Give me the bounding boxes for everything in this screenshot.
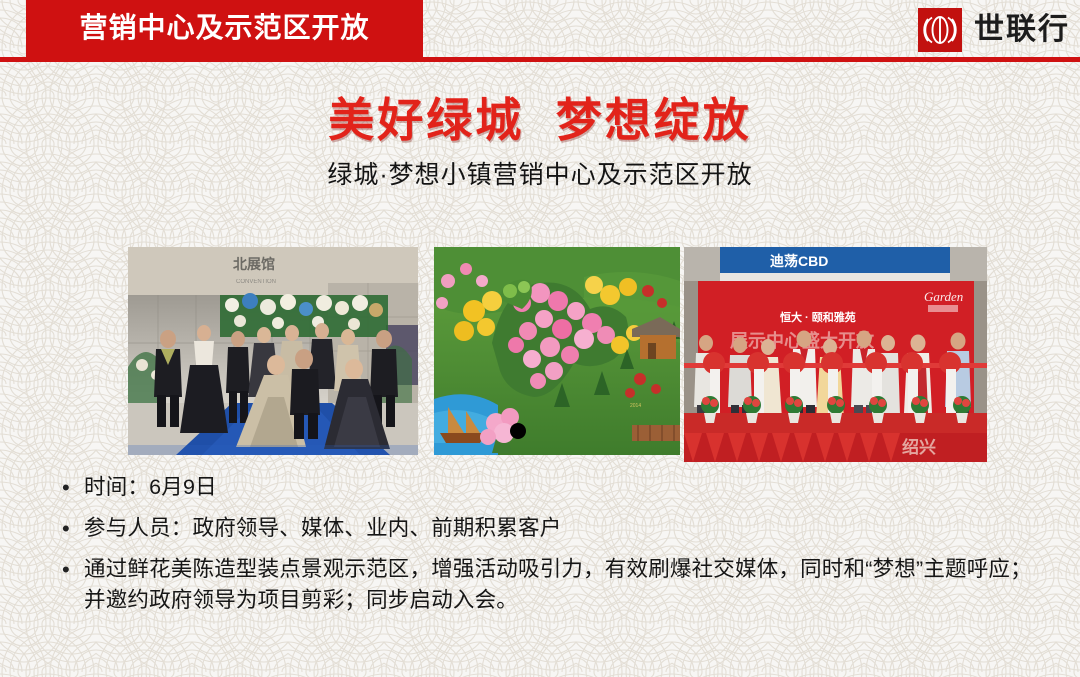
title-block: 美好绿城 梦想绽放 绿城·梦想小镇营销中心及示范区开放 <box>0 96 1080 190</box>
header-divider-rule <box>0 57 1080 62</box>
photo-strip: 北展馆 CONVENTION <box>0 247 1080 467</box>
svg-text:迪荡CBD: 迪荡CBD <box>770 253 828 269</box>
slide-header: 营销中心及示范区开放 世联行 <box>0 0 1080 66</box>
svg-text:CONVENTION: CONVENTION <box>236 279 276 285</box>
svg-text:绍兴: 绍兴 <box>902 437 936 457</box>
bullet-list: • 时间：6月9日 • 参与人员：政府领导、媒体、业内、前期积累客户 • 通过鲜… <box>62 472 1052 625</box>
ribbon-cutting-ceremony-photo: 迪荡CBD 恒大 · 颐和雅苑 展示中心盛大开放 Garden <box>684 247 987 462</box>
svg-text:恒大 · 颐和雅苑: 恒大 · 颐和雅苑 <box>780 310 856 324</box>
flower-landscape-display-photo: 2014 <box>434 247 680 455</box>
bullet-marker-icon: • <box>62 513 84 545</box>
svg-text:Garden: Garden <box>924 289 963 304</box>
brand-name-text: 世联行 <box>974 15 1070 45</box>
header-title-tab: 营销中心及示范区开放 <box>26 0 423 57</box>
page-subtitle: 绿城·梦想小镇营销中心及示范区开放 <box>0 160 1080 190</box>
list-item: • 通过鲜花美陈造型装点景观示范区，增强活动吸引力，有效刷爆社交媒体，同时和“梦… <box>62 554 1052 616</box>
list-item: • 参与人员：政府领导、媒体、业内、前期积累客户 <box>62 513 1052 545</box>
fashion-models-blue-carpet-photo: 北展馆 CONVENTION <box>128 247 418 455</box>
svg-text:2014: 2014 <box>630 403 641 409</box>
page-title: 美好绿城 梦想绽放 <box>0 96 1080 144</box>
bullet-text: 通过鲜花美陈造型装点景观示范区，增强活动吸引力，有效刷爆社交媒体，同时和“梦想”… <box>84 554 1044 616</box>
brand-logo: 世联行 <box>918 8 1070 52</box>
list-item: • 时间：6月9日 <box>62 472 1052 504</box>
svg-text:北展馆: 北展馆 <box>233 256 275 272</box>
bullet-marker-icon: • <box>62 554 84 586</box>
shilian-globe-logo-icon <box>918 8 962 52</box>
header-title-text: 营销中心及示范区开放 <box>79 14 369 44</box>
bullet-text: 参与人员：政府领导、媒体、业内、前期积累客户 <box>84 513 561 544</box>
bullet-marker-icon: • <box>62 472 84 504</box>
bullet-text: 时间：6月9日 <box>84 472 217 503</box>
